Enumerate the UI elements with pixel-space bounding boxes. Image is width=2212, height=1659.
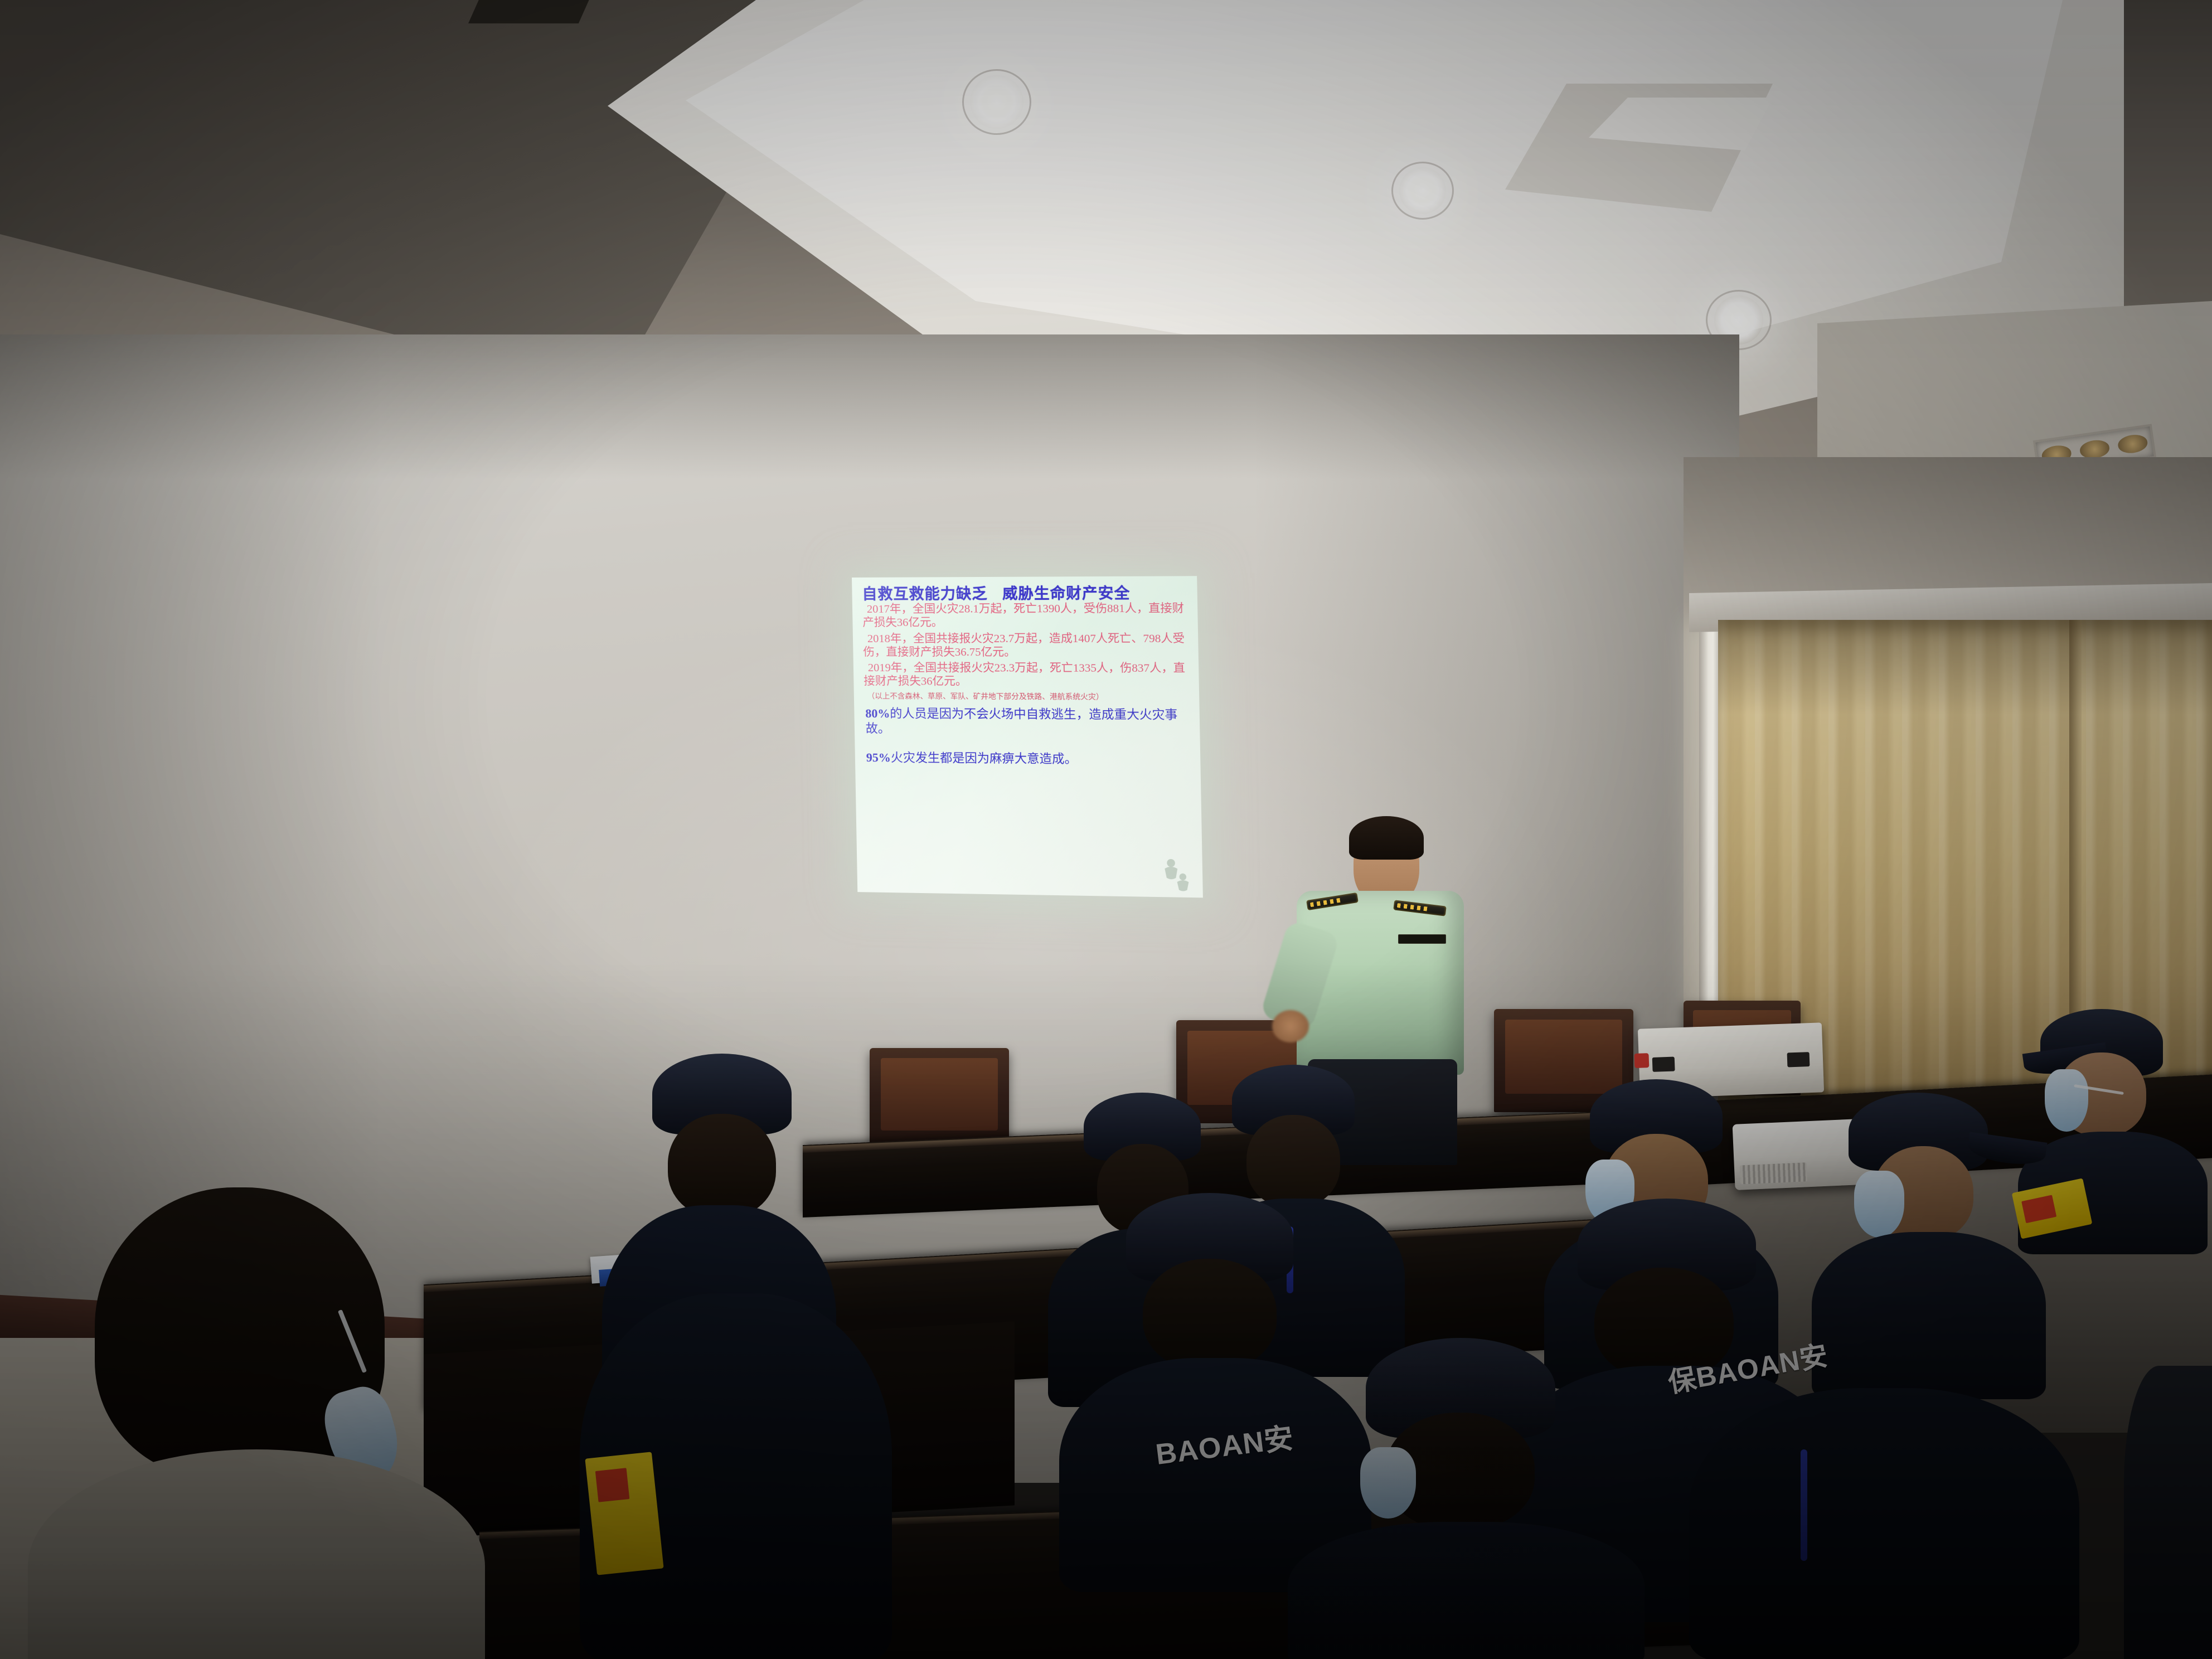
front-wall-top-shadow	[0, 334, 1739, 479]
lanyard	[1801, 1449, 1807, 1561]
audience-member	[580, 1271, 892, 1659]
presenter-hair	[1349, 816, 1424, 860]
armband-emblem	[595, 1468, 630, 1502]
slide-title-part-2: 威胁生命财产安全	[1002, 585, 1131, 602]
chair	[870, 1048, 1009, 1148]
case-latch	[1652, 1057, 1675, 1072]
slide-point-80-text: 的人员是因为不会火场中自救逃生，造成重大火灾事故。	[866, 706, 1178, 735]
presenter-hand	[1272, 1010, 1309, 1042]
chair-pad	[881, 1058, 998, 1131]
slide-point-95-text: 火灾发生都是因为麻痹大意造成。	[891, 750, 1078, 766]
head	[1143, 1259, 1277, 1370]
slide-stat-2017: 2017年，全国火灾28.1万起，死亡1390人，受伤881人，直接财产损失36…	[862, 603, 1190, 630]
audience-member	[1689, 1388, 2079, 1659]
slide-stat-2019: 2019年，全国共接报火灾23.3万起，死亡1335人，伤837人，直接财产损失…	[864, 662, 1191, 689]
audience-member-edge	[2124, 1366, 2212, 1659]
case-red-tag	[1634, 1053, 1649, 1068]
torso	[1812, 1232, 2046, 1399]
face-mask	[1360, 1447, 1416, 1519]
slide-point-80-pct: 80%	[865, 706, 890, 720]
face-mask	[2045, 1069, 2088, 1132]
slide-point-80: 80%的人员是因为不会火场中自救逃生，造成重大火灾事故。	[865, 706, 1192, 738]
torso	[28, 1449, 485, 1659]
armband	[585, 1452, 663, 1575]
presenter-nametag	[1398, 934, 1446, 944]
ceiling-downlight-ring	[1391, 162, 1454, 220]
slide-title-part-1: 自救互救能力缺乏	[862, 585, 988, 603]
audience-member	[1265, 1338, 1645, 1659]
spot-lamp	[2117, 433, 2149, 454]
ceiling-downlight-ring	[962, 69, 1031, 135]
foreground-attendee	[61, 1187, 474, 1659]
head	[668, 1114, 776, 1217]
conference-room-photo: 自救互救能力缺乏威胁生命财产安全 2017年，全国火灾28.1万起，死亡1390…	[0, 0, 2212, 1659]
torso	[1288, 1522, 1645, 1659]
case-latch	[1787, 1052, 1810, 1067]
slide-footnote: （以上不含森林、草原、军队、矿井地下部分及铁路、港航系统火灾）	[867, 692, 1191, 702]
face-mask	[1854, 1171, 1904, 1238]
slide-watermark-icon	[1160, 856, 1195, 894]
torso	[1689, 1388, 2079, 1659]
ceiling-speaker-icon	[468, 0, 596, 23]
torso	[2124, 1366, 2212, 1659]
slide-point-95-pct: 95%	[866, 750, 891, 764]
slide-stat-2018: 2018年，全国共接报火灾23.7万起，造成1407人死亡、798人受伤，直接财…	[863, 632, 1191, 659]
projected-slide: 自救互救能力缺乏威胁生命财产安全 2017年，全国火灾28.1万起，死亡1390…	[852, 576, 1203, 898]
slide-title: 自救互救能力缺乏威胁生命财产安全	[862, 585, 1189, 603]
slide-point-95: 95%火灾发生都是因为麻痹大意造成。	[866, 750, 1192, 768]
